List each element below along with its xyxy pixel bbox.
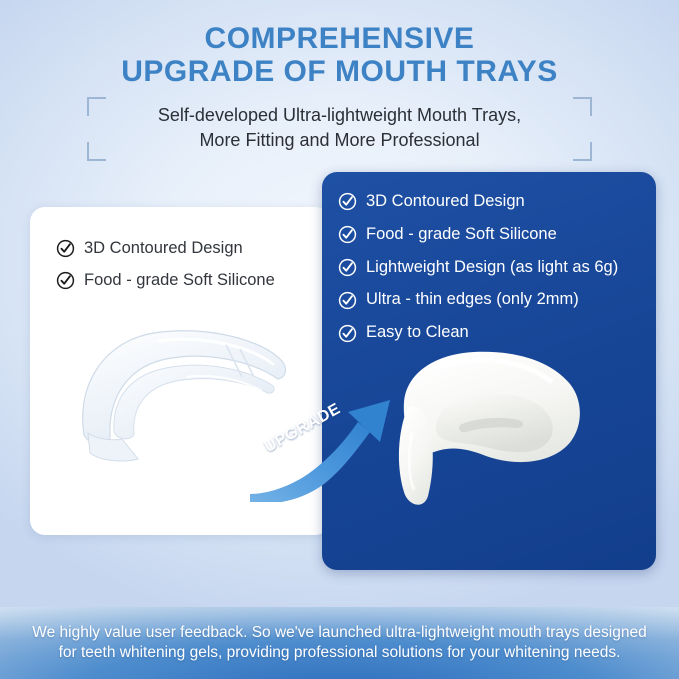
- subtitle-line-2: More Fitting and More Professional: [115, 128, 564, 153]
- feature-label: Food - grade Soft Silicone: [84, 271, 275, 291]
- check-circle-icon: [338, 192, 357, 211]
- new-model-card: 3D Contoured Design Food - grade Soft Si…: [322, 172, 656, 570]
- check-circle-icon: [56, 239, 75, 258]
- header: COMPREHENSIVE UPGRADE OF MOUTH TRAYS Sel…: [0, 0, 679, 161]
- list-item: Food - grade Soft Silicone: [338, 225, 650, 245]
- list-item: Ultra - thin edges (only 2mm): [338, 290, 650, 310]
- page-title-line-1: COMPREHENSIVE: [0, 22, 679, 55]
- subtitle-block: Self-developed Ultra-lightweight Mouth T…: [87, 97, 592, 161]
- feature-label: 3D Contoured Design: [84, 239, 243, 259]
- check-circle-icon: [56, 271, 75, 290]
- check-circle-icon: [338, 258, 357, 277]
- new-model-product-image: [390, 340, 622, 518]
- old-model-feature-list: 3D Contoured Design Food - grade Soft Si…: [56, 239, 314, 303]
- title-block: COMPREHENSIVE UPGRADE OF MOUTH TRAYS: [0, 0, 679, 88]
- list-item: Food - grade Soft Silicone: [56, 271, 314, 291]
- product-infographic: COMPREHENSIVE UPGRADE OF MOUTH TRAYS Sel…: [0, 0, 679, 679]
- check-circle-icon: [338, 225, 357, 244]
- corner-bracket-bottom-left-icon: [87, 142, 106, 161]
- list-item: 3D Contoured Design: [56, 239, 314, 259]
- old-model-card: 3D Contoured Design Food - grade Soft Si…: [30, 207, 330, 535]
- feature-label: Food - grade Soft Silicone: [366, 225, 557, 245]
- corner-bracket-top-right-icon: [573, 97, 592, 116]
- feature-label: Lightweight Design (as light as 6g): [366, 258, 618, 278]
- feature-label: 3D Contoured Design: [366, 192, 525, 212]
- list-item: Lightweight Design (as light as 6g): [338, 258, 650, 278]
- footer-text: We highly value user feedback. So we've …: [0, 623, 679, 663]
- subtitle-line-1: Self-developed Ultra-lightweight Mouth T…: [115, 103, 564, 128]
- check-circle-icon: [338, 324, 357, 343]
- corner-bracket-bottom-right-icon: [573, 142, 592, 161]
- page-title-line-2: UPGRADE OF MOUTH TRAYS: [0, 55, 679, 88]
- check-circle-icon: [338, 291, 357, 310]
- footer-banner: We highly value user feedback. So we've …: [0, 607, 679, 679]
- feature-label: Ultra - thin edges (only 2mm): [366, 290, 579, 310]
- list-item: 3D Contoured Design: [338, 192, 650, 212]
- corner-bracket-top-left-icon: [87, 97, 106, 116]
- new-model-feature-list: 3D Contoured Design Food - grade Soft Si…: [338, 192, 650, 356]
